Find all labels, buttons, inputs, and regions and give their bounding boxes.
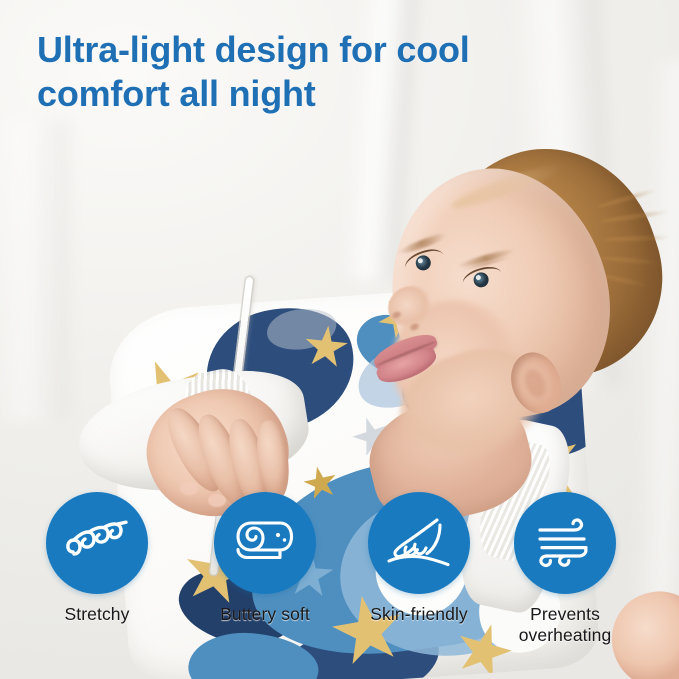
feature-label-skin-friendly: Skin-friendly [343,604,495,625]
feature-label-line-2: overheating [489,625,641,646]
badge-circle-stretchy [46,492,148,594]
fabric-roll-icon [234,519,296,567]
badge-circle-prevents-overheating [514,492,616,594]
feature-skin-friendly: Skin-friendly [343,492,495,625]
wind-breeze-icon [534,516,596,570]
headline: Ultra-light design for cool comfort all … [37,28,597,116]
product-feature-image: Ultra-light design for cool comfort all … [0,0,679,679]
feature-label-stretchy: Stretchy [21,604,173,625]
feature-label-line-1: Prevents [489,604,641,625]
spring-coil-icon [63,520,131,566]
feature-buttery-soft: Buttery soft [189,492,341,625]
hand-on-fabric-icon [385,517,453,569]
badge-circle-skin-friendly [368,492,470,594]
feature-label-prevents-overheating: Prevents overheating [489,604,641,645]
badge-circle-buttery-soft [214,492,316,594]
feature-prevents-overheating: Prevents overheating [489,492,641,645]
feature-badge-row: Stretchy Buttery soft [0,492,679,668]
headline-line-1: Ultra-light design for cool [37,28,597,72]
headline-line-2: comfort all night [37,72,597,116]
feature-label-buttery-soft: Buttery soft [189,604,341,625]
feature-stretchy: Stretchy [21,492,173,625]
